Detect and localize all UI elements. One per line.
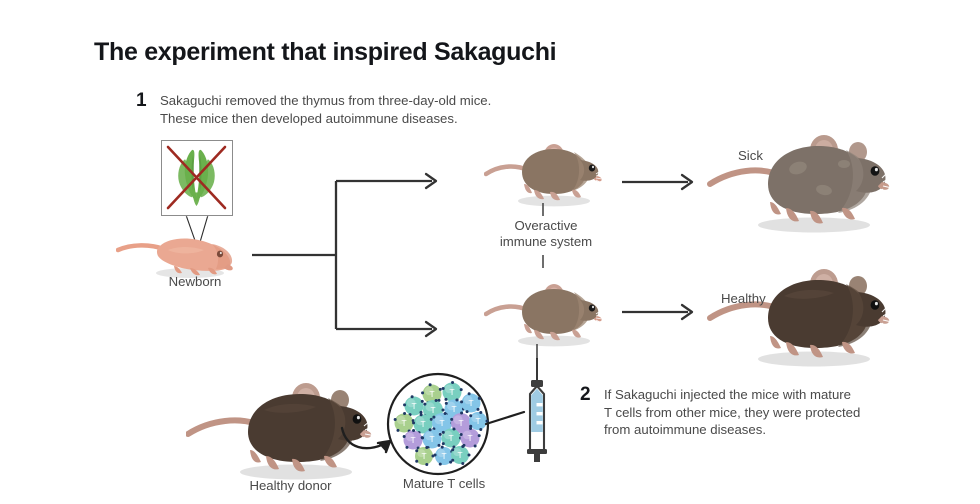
- receptor-dot: [396, 429, 399, 432]
- receptor-dot: [461, 445, 464, 448]
- t-cell-letter: T: [449, 387, 454, 397]
- receptor-dot: [439, 433, 442, 436]
- receptor-dot: [421, 400, 424, 403]
- newborn-mouse-icon: [116, 220, 246, 280]
- receptor-dot: [460, 433, 463, 436]
- receptor-dot: [444, 412, 447, 415]
- receptor-dot: [415, 460, 418, 463]
- receptor-dot: [450, 418, 453, 421]
- step-1-line-1: Sakaguchi removed the thymus from three-…: [160, 92, 491, 110]
- receptor-dot: [451, 381, 454, 384]
- receptor-dot: [411, 395, 414, 398]
- label-healthy-donor: Healthy donor: [228, 478, 353, 494]
- sick-mouse-icon: [706, 128, 892, 234]
- receptor-dot: [455, 398, 458, 401]
- t-cell-letter: T: [448, 433, 453, 443]
- step-2-line-1: If Sakaguchi injected the mice with matu…: [604, 386, 860, 404]
- syringe-icon: [520, 358, 554, 466]
- t-cell-letter: T: [401, 418, 406, 428]
- receptor-dot: [469, 427, 472, 430]
- receptor-dot: [412, 429, 415, 432]
- t-cell-letter: T: [457, 450, 462, 460]
- label-newborn: Newborn: [153, 274, 237, 290]
- receptor-dot: [469, 414, 472, 417]
- t-cell-letter: T: [430, 405, 435, 415]
- label-overactive-immune-system: Overactive immune system: [478, 218, 614, 250]
- t-cell-letter: T: [475, 416, 480, 426]
- receptor-dot: [460, 412, 463, 415]
- label-overactive-line-2: immune system: [478, 234, 614, 250]
- receptor-dot: [442, 409, 445, 412]
- t-cell-letter: T: [420, 419, 425, 429]
- receptor-dot: [435, 399, 438, 402]
- receptor-dot: [415, 449, 418, 452]
- receptor-dot: [461, 462, 464, 465]
- receptor-dot: [432, 416, 435, 419]
- receptor-dot: [442, 387, 445, 390]
- receptor-dot: [403, 435, 406, 438]
- step-2-line-2: T cells from other mice, they were prote…: [604, 404, 860, 422]
- receptor-dot: [466, 410, 469, 413]
- thymus-callout-box: [161, 140, 233, 216]
- receptor-dot: [421, 391, 424, 394]
- mouse-icon: [484, 130, 608, 208]
- receptor-dot: [478, 434, 481, 437]
- arrow-right-icon: [622, 172, 700, 192]
- receptor-dot: [439, 388, 442, 391]
- receptor-dot: [479, 411, 482, 414]
- receptor-dot: [403, 403, 406, 406]
- connector-tick-middle: [541, 255, 545, 268]
- t-cell-letter: T: [429, 434, 434, 444]
- receptor-dot: [442, 442, 445, 445]
- label-mature-t-cells: Mature T cells: [383, 476, 505, 492]
- receptor-dot: [479, 428, 482, 431]
- receptor-dot: [460, 388, 463, 391]
- t-cell-letter: T: [451, 404, 456, 414]
- diagram-canvas: The experiment that inspired Sakaguchi 1…: [0, 0, 980, 504]
- receptor-dot: [430, 418, 433, 421]
- t-cell-letter: T: [421, 451, 426, 461]
- receptor-dot: [478, 397, 481, 400]
- t-cell-letter: T: [410, 435, 415, 445]
- receptor-dot: [460, 400, 463, 403]
- label-overactive-line-1: Overactive: [478, 218, 614, 234]
- mature-t-cells-circle: TTTTTTTTTTTTTTTTTT: [386, 372, 490, 476]
- receptor-dot: [451, 459, 454, 462]
- connector-tick-top: [541, 203, 545, 216]
- receptor-dot: [429, 383, 432, 386]
- step-2-number: 2: [580, 384, 591, 406]
- t-cell-letter: T: [468, 398, 473, 408]
- mouse-icon: [484, 270, 608, 348]
- receptor-dot: [425, 446, 428, 449]
- step-2-line-3: from autoimmune diseases.: [604, 421, 860, 439]
- receptor-dot: [442, 431, 445, 434]
- receptor-dot: [451, 448, 454, 451]
- receptor-dot: [425, 463, 428, 466]
- step-1-line-2: These mice then developed autoimmune dis…: [160, 110, 491, 128]
- step-1-text: Sakaguchi removed the thymus from three-…: [160, 92, 491, 127]
- receptor-dot: [434, 453, 437, 456]
- t-cell-letter: T: [439, 418, 444, 428]
- label-healthy: Healthy: [721, 291, 766, 307]
- receptor-dot: [421, 436, 424, 439]
- step-1-number: 1: [136, 90, 147, 112]
- healthy-mouse-icon: [706, 262, 892, 368]
- receptor-dot: [394, 418, 397, 421]
- receptor-dot: [468, 454, 471, 457]
- receptor-dot: [468, 392, 471, 395]
- receptor-dot: [452, 427, 455, 430]
- receptor-dot: [474, 444, 477, 447]
- receptor-dot: [420, 413, 423, 416]
- page-title: The experiment that inspired Sakaguchi: [94, 38, 556, 67]
- arrow-right-icon: [622, 302, 700, 322]
- t-cell-letter: T: [467, 433, 472, 443]
- connector-tick-bottom: [535, 344, 539, 359]
- receptor-dot: [437, 444, 440, 447]
- receptor-dot: [403, 412, 406, 415]
- t-cell-letter: T: [458, 418, 463, 428]
- branching-arrow-icon: [252, 172, 462, 337]
- label-sick: Sick: [738, 148, 763, 164]
- t-cell-letter: T: [411, 401, 416, 411]
- receptor-dot: [445, 402, 448, 405]
- receptor-dot: [423, 403, 426, 406]
- thymus-organ-icon: [162, 141, 231, 214]
- receptor-dot: [429, 428, 432, 431]
- receptor-dot: [444, 398, 447, 401]
- t-cell-letter: T: [429, 389, 434, 399]
- receptor-dot: [439, 463, 442, 466]
- receptor-dot: [412, 421, 415, 424]
- step-2-text: If Sakaguchi injected the mice with matu…: [604, 386, 860, 439]
- receptor-dot: [405, 446, 408, 449]
- receptor-dot: [476, 408, 479, 411]
- t-cell-letter: T: [441, 451, 446, 461]
- receptor-dot: [441, 446, 444, 449]
